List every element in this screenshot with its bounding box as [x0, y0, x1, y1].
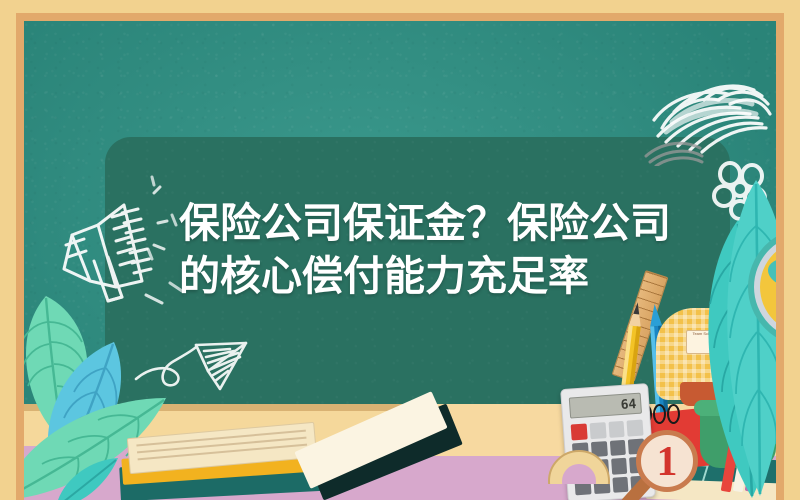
- page-title: 保险公司保证金？保险公司的核心偿付能力充足率: [179, 197, 679, 303]
- leaf-teal-small: [52, 452, 122, 500]
- protractor: [548, 450, 610, 484]
- calculator-key[interactable]: [627, 420, 644, 437]
- cloud-smudge-icon: [644, 56, 776, 166]
- calculator-key[interactable]: [589, 422, 606, 439]
- frame-inner-left: [16, 13, 24, 500]
- poster-root: 保险公司保证金？保险公司的核心偿付能力充足率: [0, 0, 800, 500]
- notebook-spiral: [653, 404, 666, 424]
- calculator-key[interactable]: [571, 423, 588, 440]
- frame-inner-top: [16, 13, 784, 21]
- calculator-key[interactable]: [609, 439, 626, 456]
- frame-edge-top: [0, 0, 800, 13]
- calculator-display: 64: [569, 393, 642, 419]
- frame-inner-right: [776, 13, 784, 500]
- calculator-key[interactable]: [608, 421, 625, 438]
- calculator-key[interactable]: [611, 458, 628, 475]
- calculator-key[interactable]: [612, 476, 629, 493]
- frame-edge-left: [0, 0, 16, 500]
- frame-edge-right: [784, 0, 800, 500]
